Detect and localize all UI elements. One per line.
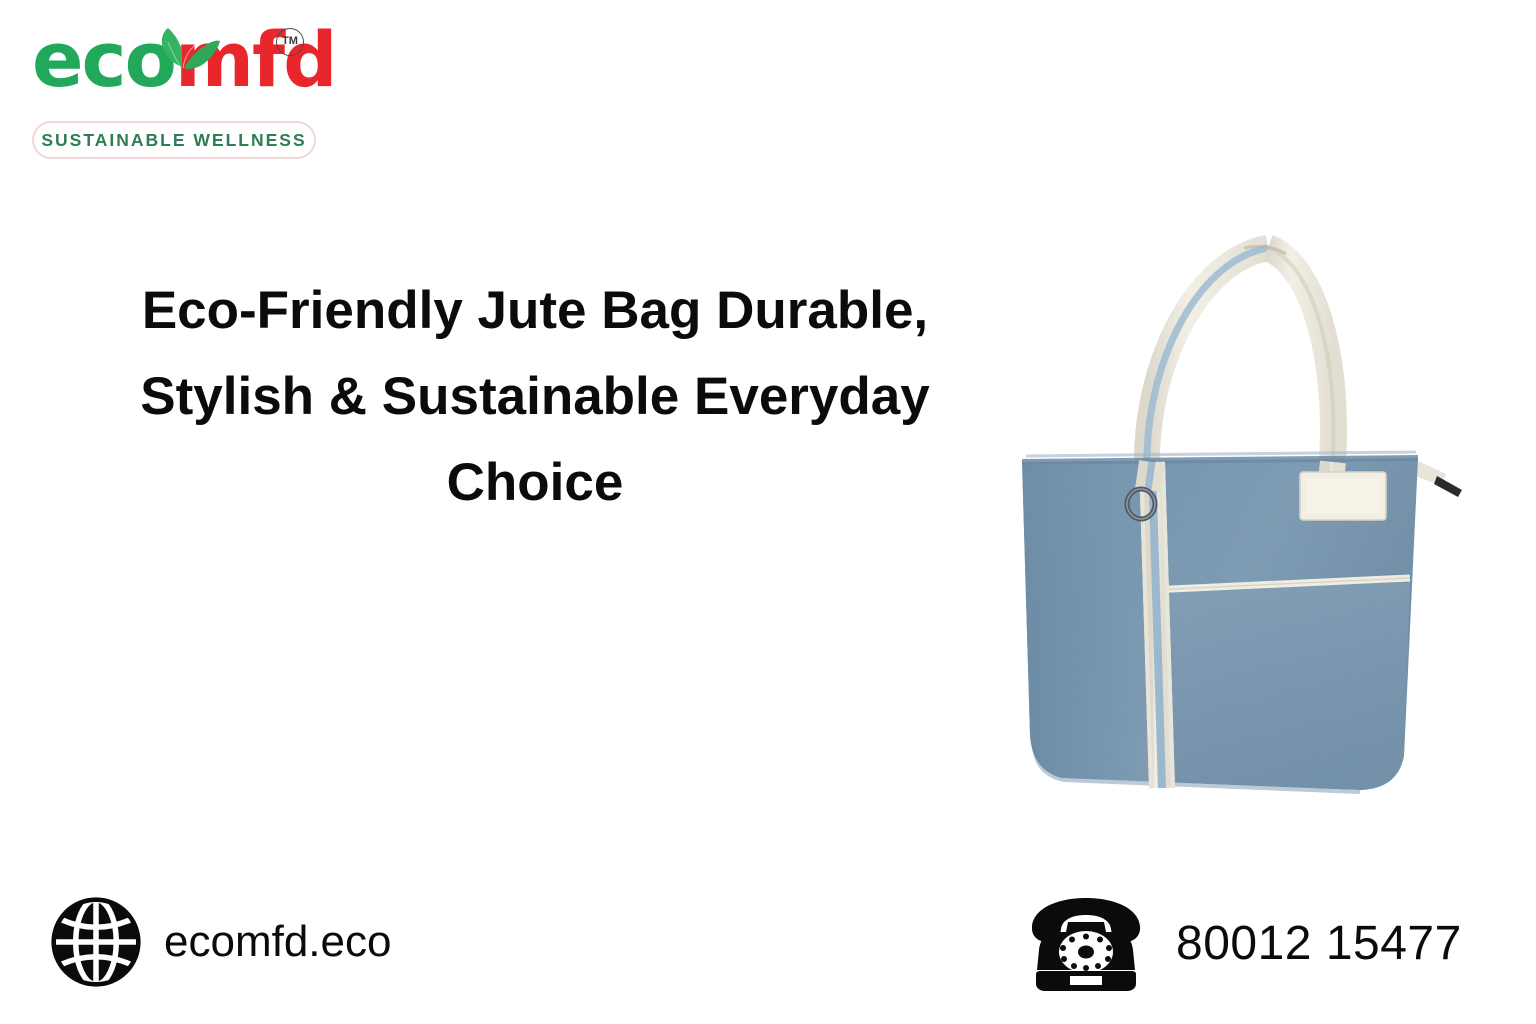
trademark-icon: TM bbox=[276, 28, 304, 56]
poster-canvas: ecomfd TM SUSTAINABLE WELLNESS Eco-Frien… bbox=[0, 0, 1536, 1024]
logo-text-eco: eco bbox=[32, 15, 175, 104]
logo-wordmark: ecomfd TM bbox=[18, 14, 318, 110]
website-label: ecomfd.eco bbox=[164, 918, 391, 966]
logo-tagline: SUSTAINABLE WELLNESS bbox=[32, 121, 316, 159]
telephone-icon bbox=[1022, 896, 1150, 992]
phone-label: 80012 15477 bbox=[1176, 918, 1462, 970]
product-image-jute-tote-bag bbox=[1000, 190, 1500, 810]
footer-website[interactable]: ecomfd.eco bbox=[50, 896, 391, 988]
globe-icon bbox=[50, 896, 142, 988]
footer-phone[interactable]: 80012 15477 bbox=[1022, 896, 1462, 992]
page-title: Eco-Friendly Jute Bag Durable, Stylish &… bbox=[60, 268, 1010, 526]
brand-logo[interactable]: ecomfd TM SUSTAINABLE WELLNESS bbox=[18, 14, 318, 154]
logo-text-mfd: mfd bbox=[175, 15, 336, 104]
